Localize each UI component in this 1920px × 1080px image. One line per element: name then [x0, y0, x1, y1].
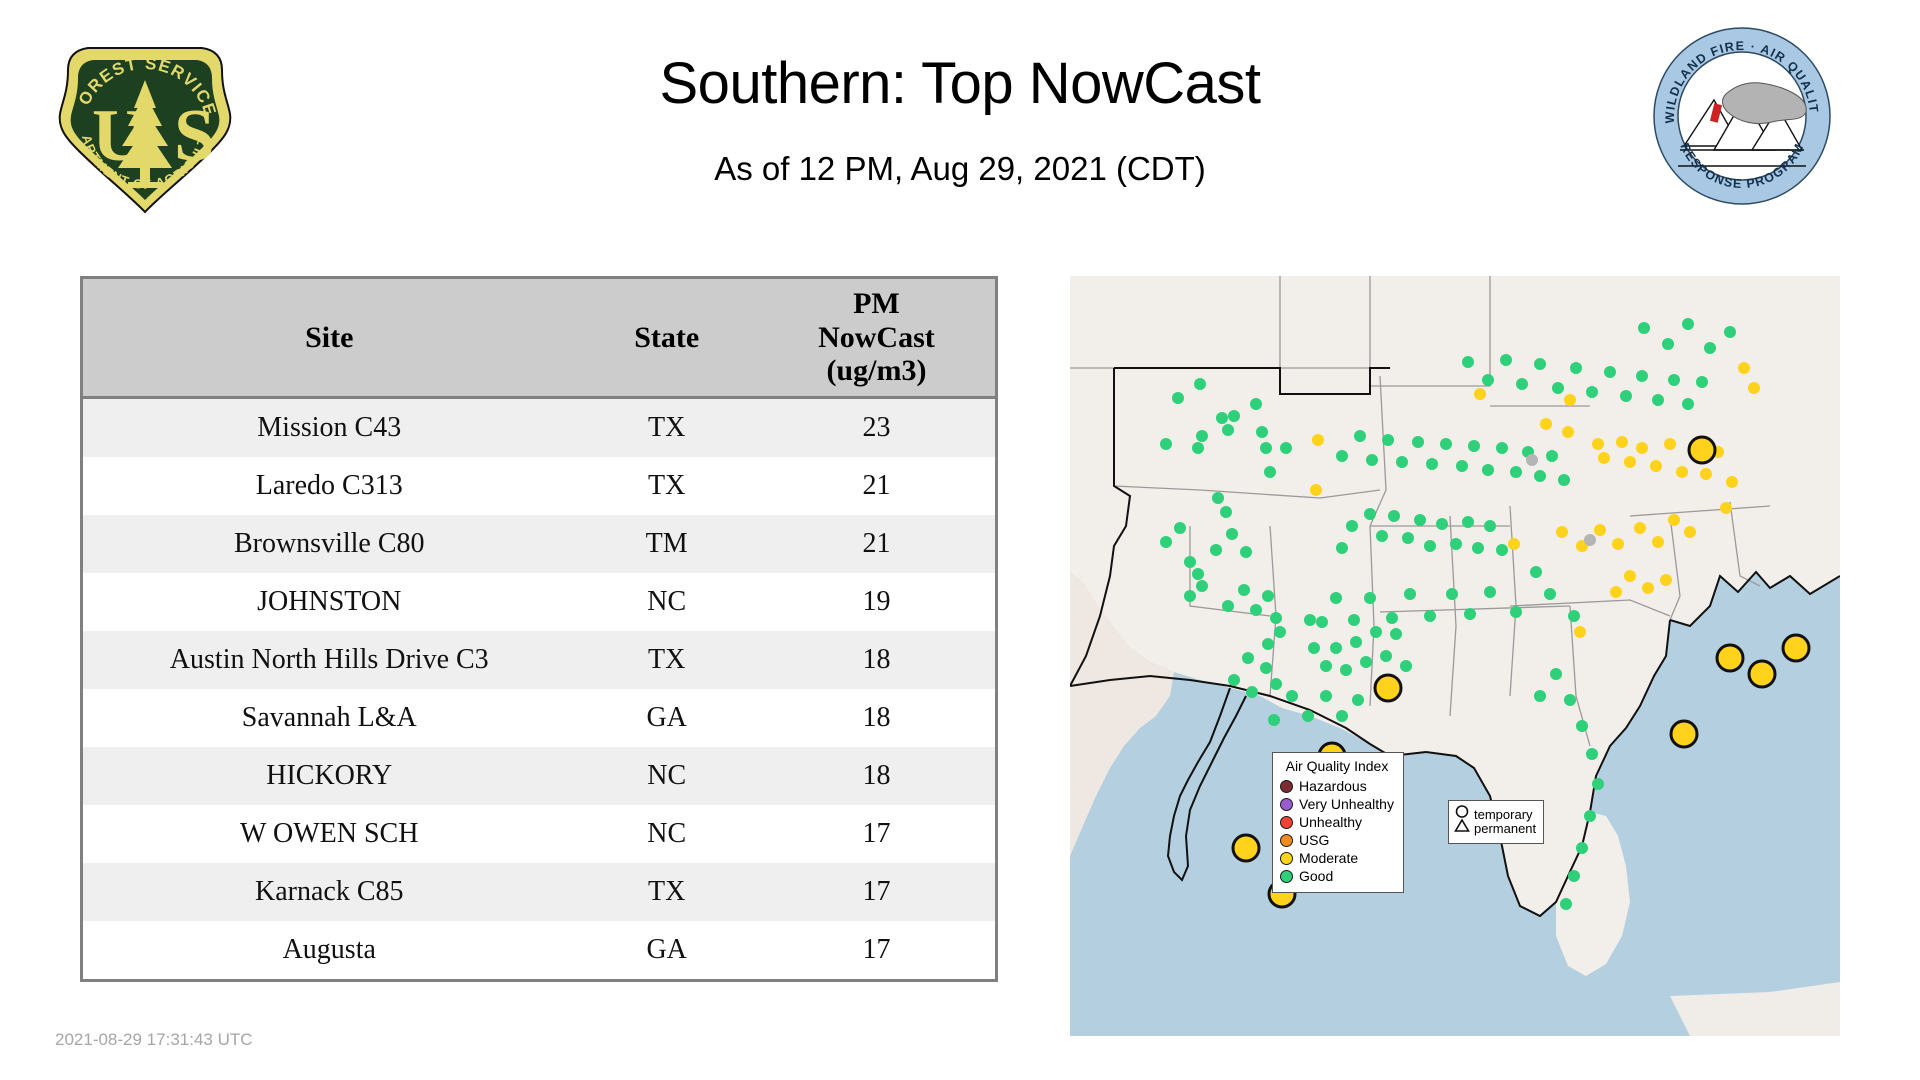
cell-state: TX: [575, 397, 757, 457]
cell-site: Augusta: [83, 921, 575, 979]
cell-state: TX: [575, 863, 757, 921]
legend-dot-usg: [1280, 834, 1293, 847]
top-site-marker: [1375, 675, 1401, 701]
cell-state: TM: [575, 515, 757, 573]
cell-value: 18: [758, 747, 995, 805]
legend-item-usg: USG: [1280, 831, 1394, 849]
cell-value: 17: [758, 921, 995, 979]
cell-site: Karnack C85: [83, 863, 575, 921]
table-row: Savannah L&A GA 18: [83, 689, 995, 747]
nowcast-table-container: Site State PM NowCast (ug/m3) Mission C4…: [80, 276, 998, 982]
legend-item-unhealthy: Unhealthy: [1280, 813, 1394, 831]
cell-value: 18: [758, 631, 995, 689]
air-quality-map[interactable]: [1070, 276, 1840, 1036]
table-row: HICKORY NC 18: [83, 747, 995, 805]
legend-label: Unhealthy: [1299, 815, 1362, 829]
table-row: Mission C43 TX 23: [83, 397, 995, 457]
cell-value: 21: [758, 515, 995, 573]
table-row: Karnack C85 TX 17: [83, 863, 995, 921]
cell-site: Brownsville C80: [83, 515, 575, 573]
header-line: (ug/m3): [826, 354, 926, 387]
page-subtitle: As of 12 PM, Aug 29, 2021 (CDT): [300, 150, 1620, 188]
cell-site: Laredo C313: [83, 457, 575, 515]
cell-value: 17: [758, 805, 995, 863]
table-row: Austin North Hills Drive C3 TX 18: [83, 631, 995, 689]
legend-label: Good: [1299, 869, 1333, 883]
cell-site: Mission C43: [83, 397, 575, 457]
cell-value: 23: [758, 397, 995, 457]
legend-item-hazardous: Hazardous: [1280, 777, 1394, 795]
top-site-marker: [1749, 661, 1775, 687]
cell-state: TX: [575, 631, 757, 689]
cell-state: GA: [575, 689, 757, 747]
cell-value: 19: [758, 573, 995, 631]
table-row: W OWEN SCH NC 17: [83, 805, 995, 863]
cell-site: Austin North Hills Drive C3: [83, 631, 575, 689]
top-site-marker: [1717, 645, 1743, 671]
cell-site: HICKORY: [83, 747, 575, 805]
legend-dot-hazardous: [1280, 780, 1293, 793]
slide-root: FOREST SERVICE U S DEPARTMENT OF AGRICUL…: [0, 0, 1920, 1080]
cell-state: GA: [575, 921, 757, 979]
cell-state: NC: [575, 573, 757, 631]
cell-value: 17: [758, 863, 995, 921]
column-header-state: State: [575, 279, 757, 397]
table-row: Augusta GA 17: [83, 921, 995, 979]
circle-icon: [1457, 806, 1468, 817]
legend-dot-good: [1280, 870, 1293, 883]
triangle-icon: [1456, 820, 1469, 831]
page-title: Southern: Top NowCast: [300, 52, 1620, 116]
legend-title: Air Quality Index: [1280, 758, 1394, 774]
label-temporary: temporary: [1474, 808, 1536, 822]
cell-site: JOHNSTON: [83, 573, 575, 631]
wildland-fire-air-quality-logo: WILDLAND FIRE · AIR QUALITY RESPONSE PRO…: [1652, 26, 1832, 206]
cell-state: NC: [575, 805, 757, 863]
nowcast-table: Site State PM NowCast (ug/m3) Mission C4…: [83, 279, 995, 979]
footer-timestamp: 2021-08-29 17:31:43 UTC: [55, 1030, 253, 1050]
top-site-marker: [1783, 635, 1809, 661]
cell-state: NC: [575, 747, 757, 805]
cell-site: W OWEN SCH: [83, 805, 575, 863]
column-header-pm-nowcast: PM NowCast (ug/m3): [758, 279, 995, 397]
cell-state: TX: [575, 457, 757, 515]
table-header-row: Site State PM NowCast (ug/m3): [83, 279, 995, 397]
legend-item-moderate: Moderate: [1280, 849, 1394, 867]
cell-value: 18: [758, 689, 995, 747]
cell-value: 21: [758, 457, 995, 515]
header-line: PM: [853, 287, 900, 320]
legend-label: USG: [1299, 833, 1329, 847]
column-header-site: Site: [83, 279, 575, 397]
legend-label: Very Unhealthy: [1299, 797, 1394, 811]
legend-item-very-unhealthy: Very Unhealthy: [1280, 795, 1394, 813]
top-site-marker: [1233, 835, 1259, 861]
header-line: NowCast: [818, 321, 935, 354]
table-row: JOHNSTON NC 19: [83, 573, 995, 631]
header-line: Site: [305, 321, 353, 354]
usda-forest-service-logo: FOREST SERVICE U S DEPARTMENT OF AGRICUL…: [48, 28, 242, 218]
label-permanent: permanent: [1474, 822, 1536, 836]
legend-dot-unhealthy: [1280, 816, 1293, 829]
legend-label: Moderate: [1299, 851, 1358, 865]
legend-label: Hazardous: [1299, 779, 1367, 793]
table-row: Laredo C313 TX 21: [83, 457, 995, 515]
monitor-type-icons: [1454, 804, 1470, 839]
top-site-marker: [1689, 437, 1715, 463]
legend-item-good: Good: [1280, 867, 1394, 885]
table-row: Brownsville C80 TM 21: [83, 515, 995, 573]
legend-dot-moderate: [1280, 852, 1293, 865]
air-quality-index-legend: Air Quality Index Hazardous Very Unhealt…: [1272, 752, 1404, 893]
monitor-type-labels: temporary permanent: [1474, 808, 1536, 836]
title-block: Southern: Top NowCast As of 12 PM, Aug 2…: [300, 52, 1620, 188]
top-site-marker: [1671, 721, 1697, 747]
cell-site: Savannah L&A: [83, 689, 575, 747]
monitor-type-legend: temporary permanent: [1448, 800, 1544, 844]
legend-dot-very-unhealthy: [1280, 798, 1293, 811]
header-line: State: [634, 321, 699, 354]
